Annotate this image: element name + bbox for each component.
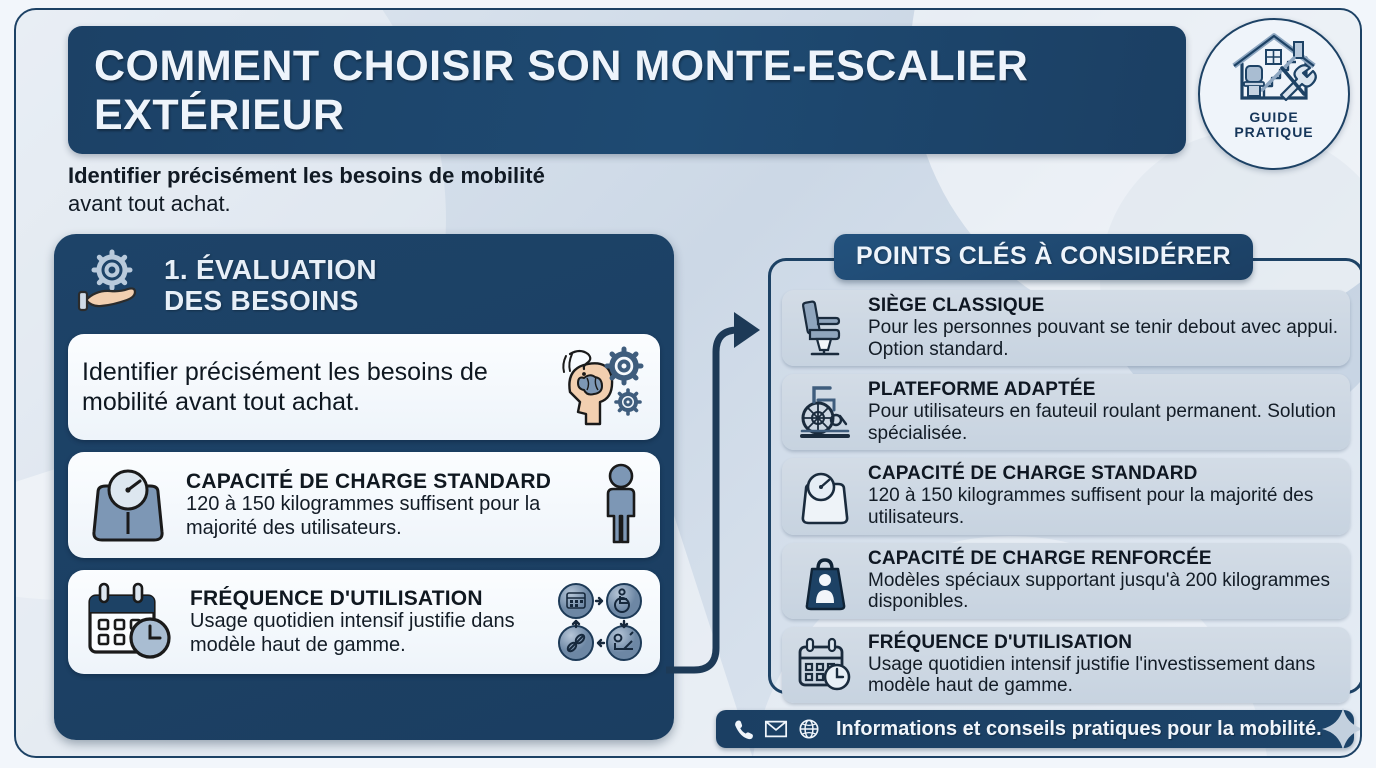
card-title: FRÉQUENCE D'UTILISATION	[190, 587, 542, 611]
left-panel-card-list: Identifier précisément les besoins de mo…	[54, 328, 674, 688]
list-item-description: Pour les personnes pouvant se tenir debo…	[868, 317, 1340, 360]
left-panel-header: 1. ÉVALUATION DES BESOINS	[54, 234, 674, 328]
left-panel-title-line1: 1. ÉVALUATION	[164, 254, 377, 285]
flow-arrow-connector	[666, 292, 776, 692]
subtitle-bold-line: Identifier précisément les besoins de mo…	[68, 162, 748, 190]
card-description: Identifier précisément les besoins de mo…	[82, 357, 528, 417]
heavy-weight-icon	[792, 549, 858, 613]
stairlift-seat-icon	[792, 296, 858, 360]
card-needs-assessment: Identifier précisément les besoins de mo…	[68, 334, 660, 440]
card-load-capacity-standard: CAPACITÉ DE CHARGE STANDARD 120 à 150 ki…	[68, 452, 660, 558]
logo-label-line1: GUIDE	[1249, 110, 1298, 125]
card-description: Usage quotidien intensif justifie dans m…	[190, 610, 542, 657]
list-item-description: 120 à 150 kilogrammes suffisent pour la …	[868, 485, 1340, 528]
left-panel-title: 1. ÉVALUATION DES BESOINS	[164, 254, 377, 317]
list-item-description: Pour utilisateurs en fauteuil roulant pe…	[868, 401, 1340, 444]
right-panel-item-list: SIÈGE CLASSIQUE Pour les personnes pouva…	[782, 290, 1350, 703]
list-item-capacity-reinforced: CAPACITÉ DE CHARGE RENFORCÉE Modèles spé…	[782, 543, 1350, 619]
globe-icon[interactable]	[798, 718, 820, 740]
card-description: 120 à 150 kilogrammes suffisent pour la …	[186, 493, 584, 540]
list-item-title: PLATEFORME ADAPTÉE	[868, 380, 1340, 401]
head-brain-gears-icon	[540, 344, 646, 430]
poster-frame: COMMENT CHOISIR SON MONTE-ESCALIER EXTÉR…	[14, 8, 1362, 758]
calendar-clock-icon	[82, 580, 178, 664]
standing-person-icon	[596, 462, 646, 548]
envelope-icon[interactable]	[764, 718, 788, 740]
header-bar: COMMENT CHOISIR SON MONTE-ESCALIER EXTÉR…	[68, 26, 1186, 154]
list-item-title: CAPACITÉ DE CHARGE RENFORCÉE	[868, 549, 1340, 570]
card-title: CAPACITÉ DE CHARGE STANDARD	[186, 470, 584, 494]
left-panel-title-line2: DES BESOINS	[164, 285, 377, 316]
list-item-title: FRÉQUENCE D'UTILISATION	[868, 633, 1340, 654]
page-title: COMMENT CHOISIR SON MONTE-ESCALIER EXTÉR…	[94, 42, 1160, 141]
phone-icon[interactable]	[732, 718, 754, 740]
list-item-title: CAPACITÉ DE CHARGE STANDARD	[868, 464, 1340, 485]
list-item-frequency: FRÉQUENCE D'UTILISATION Usage quotidien …	[782, 627, 1350, 703]
footer-contact-bar: Informations et conseils pratiques pour …	[716, 710, 1354, 748]
right-panel-title: POINTS CLÉS À CONSIDÉRER	[834, 234, 1253, 280]
logo-label-line2: PRATIQUE	[1234, 125, 1313, 140]
sparkle-icon	[1320, 706, 1362, 752]
footer-text: Informations et conseils pratiques pour …	[836, 718, 1322, 741]
bathroom-scale-icon	[792, 465, 858, 529]
subtitle-rest-line: avant tout achat.	[68, 190, 748, 218]
subtitle-block: Identifier précisément les besoins de mo…	[68, 162, 748, 217]
wheelchair-platform-icon	[792, 380, 858, 444]
list-item-description: Modèles spéciaux supportant jusqu'à 200 …	[868, 570, 1340, 613]
list-item-capacity-standard: CAPACITÉ DE CHARGE STANDARD 120 à 150 ki…	[782, 458, 1350, 534]
list-item-seat-classic: SIÈGE CLASSIQUE Pour les personnes pouva…	[782, 290, 1350, 366]
list-item-description: Usage quotidien intensif justifie l'inve…	[868, 654, 1340, 697]
list-item-title: SIÈGE CLASSIQUE	[868, 296, 1340, 317]
bathroom-scale-icon	[82, 462, 174, 548]
left-panel-evaluation: 1. ÉVALUATION DES BESOINS Identifier pré…	[54, 234, 674, 740]
infographic-poster: COMMENT CHOISIR SON MONTE-ESCALIER EXTÉR…	[0, 0, 1376, 768]
guide-logo-badge: GUIDE PRATIQUE	[1198, 18, 1350, 170]
list-item-platform: PLATEFORME ADAPTÉE Pour utilisateurs en …	[782, 374, 1350, 450]
gear-hand-icon-group	[76, 248, 150, 322]
cycle-four-icons	[554, 581, 646, 663]
calendar-clock-icon	[792, 633, 858, 697]
house-stairlift-tools-icon	[1224, 28, 1324, 110]
card-usage-frequency: FRÉQUENCE D'UTILISATION Usage quotidien …	[68, 570, 660, 674]
